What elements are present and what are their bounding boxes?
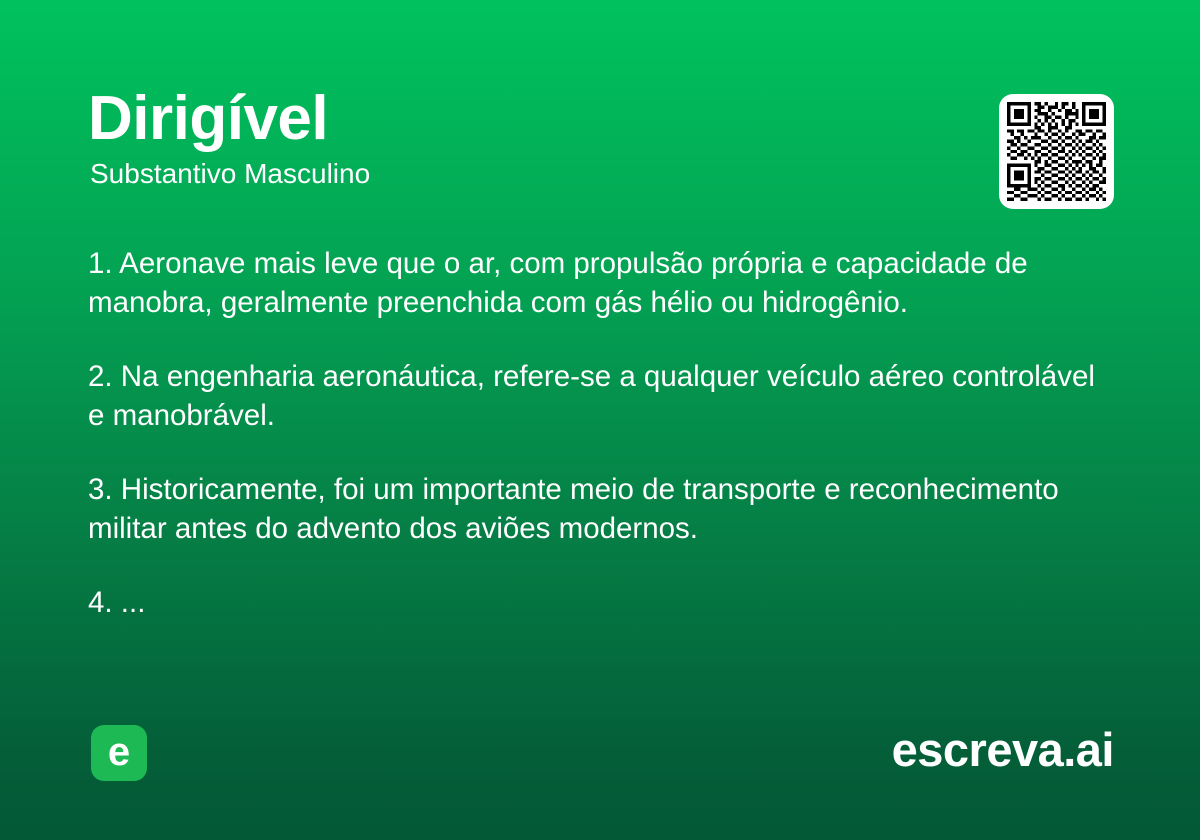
brand-logo-letter: e <box>108 732 130 772</box>
qr-code-container[interactable] <box>999 94 1114 209</box>
definition-item: 2. Na engenharia aeronáutica, refere-se … <box>88 357 1100 435</box>
brand-wordmark: escreva.ai <box>892 722 1114 778</box>
brand-logo: e <box>91 725 147 781</box>
card-header: Dirigível Substantivo Masculino <box>88 86 948 191</box>
page-title: Dirigível <box>88 86 948 151</box>
definition-item: 1. Aeronave mais leve que o ar, com prop… <box>88 244 1100 322</box>
definition-item: 4. ... <box>88 583 1100 622</box>
definition-item: 3. Historicamente, foi um importante mei… <box>88 470 1100 548</box>
dictionary-card: Dirigível Substantivo Masculino 1. Aeron… <box>0 0 1200 840</box>
word-class-label: Substantivo Masculino <box>90 157 948 191</box>
qr-code-icon <box>1007 102 1106 201</box>
definition-list: 1. Aeronave mais leve que o ar, com prop… <box>88 244 1100 622</box>
